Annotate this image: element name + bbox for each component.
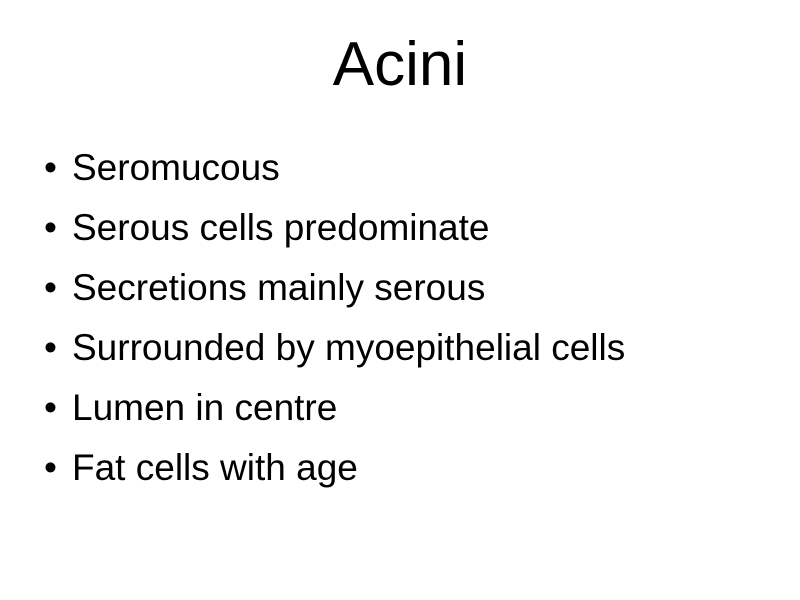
list-item: • Seromucous: [44, 138, 774, 198]
list-item-label: Surrounded by myoepithelial cells: [72, 318, 625, 378]
slide-canvas: Acini • Seromucous • Serous cells predom…: [0, 0, 800, 600]
page-title: Acini: [0, 34, 800, 96]
bullet-dot-icon: •: [44, 138, 72, 198]
bullet-dot-icon: •: [44, 378, 72, 438]
list-item: • Secretions mainly serous: [44, 258, 774, 318]
list-item-label: Secretions mainly serous: [72, 258, 485, 318]
bullet-dot-icon: •: [44, 318, 72, 378]
list-item-label: Serous cells predominate: [72, 198, 490, 258]
list-item: • Lumen in centre: [44, 378, 774, 438]
bullet-dot-icon: •: [44, 198, 72, 258]
list-item-label: Seromucous: [72, 138, 280, 198]
list-item-label: Lumen in centre: [72, 378, 337, 438]
list-item-label: Fat cells with age: [72, 438, 358, 498]
bullet-list: • Seromucous • Serous cells predominate …: [44, 138, 774, 498]
list-item: • Surrounded by myoepithelial cells: [44, 318, 774, 378]
list-item: • Serous cells predominate: [44, 198, 774, 258]
list-item: • Fat cells with age: [44, 438, 774, 498]
bullet-dot-icon: •: [44, 438, 72, 498]
bullet-dot-icon: •: [44, 258, 72, 318]
